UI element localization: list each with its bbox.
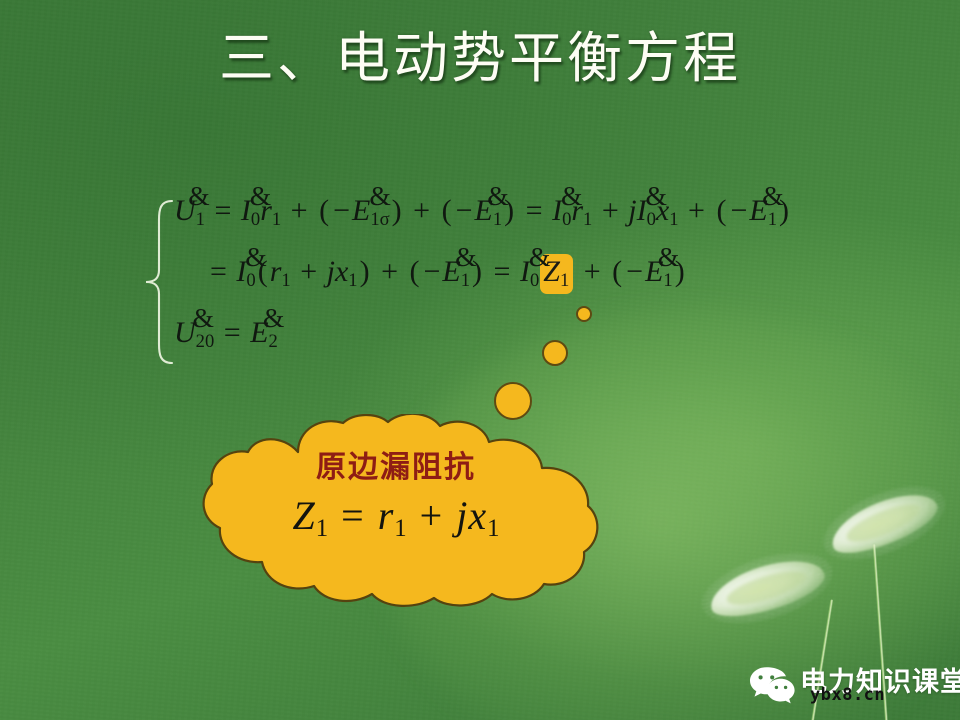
paren-open: ( — [714, 194, 728, 227]
equation-line-1: U&1 = I&0r1 + (−E&1σ) + (−E&1) = I&0r1 +… — [174, 194, 791, 231]
slide-title: 三、电动势平衡方程 — [0, 28, 960, 90]
paren-close: ) — [358, 255, 372, 288]
phasor-I0: I&0 — [241, 194, 260, 231]
dot-accent-artifact: & — [487, 180, 508, 212]
dot-accent-artifact: & — [369, 180, 390, 212]
phasor-E1: E&1 — [749, 194, 777, 231]
cloud-callout-text: 原边漏阻抗 Z1 = r1 + jx1 — [186, 450, 606, 543]
operator-plus: + — [600, 194, 621, 227]
cloud-callout-title: 原边漏阻抗 — [186, 450, 606, 486]
operator-plus: + — [289, 194, 310, 227]
dot-accent-artifact: & — [193, 302, 214, 334]
symbol-jx1: jx1 — [456, 493, 499, 538]
cloud-callout-formula: Z1 = r1 + jx1 — [186, 492, 606, 543]
equation-line-3: U&20 = E&2 — [174, 316, 278, 353]
operator-plus: + — [379, 255, 400, 288]
phasor-E1sigma: E&1σ — [352, 194, 390, 231]
symbol-r1: r1 — [270, 255, 291, 288]
dot-accent-artifact: & — [561, 180, 582, 212]
left-curly-brace — [142, 198, 176, 366]
dot-accent-artifact: & — [658, 241, 679, 273]
phasor-I0: I&0 — [552, 194, 571, 231]
equation-block: U&1 = I&0r1 + (−E&1σ) + (−E&1) = I&0r1 +… — [140, 190, 900, 375]
operator-minus: − — [422, 255, 443, 288]
operator-plus: + — [411, 194, 432, 227]
phasor-I0: I&0 — [520, 255, 539, 292]
operator-minus: − — [624, 255, 645, 288]
watermark-url: ybx8.cn — [810, 685, 885, 705]
phasor-E1: E&1 — [442, 255, 470, 292]
dot-accent-artifact: & — [529, 241, 550, 273]
paren-open: ( — [317, 194, 331, 227]
cloud-callout[interactable]: 原边漏阻抗 Z1 = r1 + jx1 — [186, 414, 606, 610]
phasor-U20: U&20 — [174, 316, 214, 353]
operator-plus: + — [582, 255, 603, 288]
phasor-U1: U&1 — [174, 194, 205, 231]
operator-minus: − — [728, 194, 749, 227]
operator-plus: + — [418, 493, 446, 538]
operator-equals: = — [492, 255, 513, 288]
operator-plus: + — [686, 194, 707, 227]
slide-canvas: 三、电动势平衡方程 U&1 = I&0r1 + (−E&1σ) + (−E&1)… — [0, 0, 960, 720]
symbol-jx1: jx1 — [327, 255, 358, 288]
dot-accent-artifact: & — [455, 241, 476, 273]
symbol-Z1: Z1 — [292, 493, 328, 538]
operator-equals: = — [339, 493, 367, 538]
paren-open: ( — [440, 194, 454, 227]
operator-equals: = — [212, 194, 233, 227]
phasor-E1: E&1 — [645, 255, 673, 292]
phasor-E2: E&2 — [250, 316, 278, 353]
operator-equals: = — [222, 316, 243, 349]
dot-accent-artifact: & — [762, 180, 783, 212]
operator-minus: − — [331, 194, 352, 227]
dot-accent-artifact: & — [245, 241, 266, 273]
paren-open: ( — [408, 255, 422, 288]
phasor-E1: E&1 — [475, 194, 503, 231]
equation-line-2: = I&0(r1 + jx1) + (−E&1) = I&0Z1 + (−E&1… — [208, 254, 687, 294]
operator-equals: = — [524, 194, 545, 227]
paren-close: ) — [390, 194, 404, 227]
phasor-I0: I&0 — [236, 255, 255, 292]
phasor-I0: I&0 — [637, 194, 656, 231]
wechat-logo-icon — [748, 664, 796, 704]
operator-equals: = — [208, 255, 229, 288]
dot-accent-artifact: & — [263, 302, 284, 334]
operator-plus: + — [298, 255, 319, 288]
callout-trail-bubble-medium — [542, 340, 568, 366]
symbol-r1: r1 — [378, 493, 407, 538]
dot-accent-artifact: & — [188, 180, 209, 212]
watermark: 电力知识课堂 ybx8.cn — [748, 658, 958, 712]
dot-accent-artifact: & — [250, 180, 271, 212]
symbol-j: j — [628, 194, 636, 227]
paren-open: ( — [610, 255, 624, 288]
operator-minus: − — [454, 194, 475, 227]
dot-accent-artifact: & — [645, 180, 666, 212]
callout-trail-bubble-small — [576, 306, 592, 322]
